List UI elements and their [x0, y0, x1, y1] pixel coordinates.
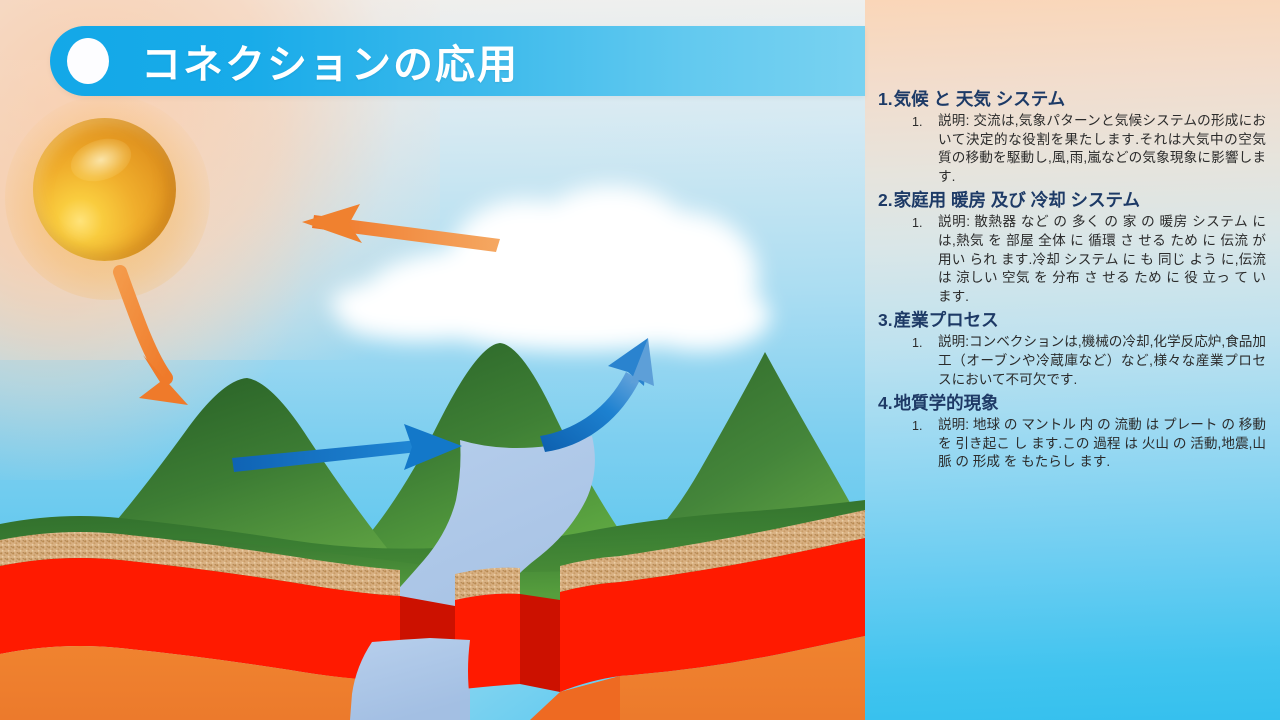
outline-heading-4-text: 地質学的現象	[894, 392, 1280, 415]
mantle-face-mid	[520, 594, 560, 692]
mantle-layer-mid2	[560, 582, 620, 692]
outline-body-4-number: 1.	[912, 416, 938, 436]
outline-heading-2-text: 家庭用 暖房 及び 冷却 システム	[894, 189, 1280, 212]
outline-item-4: 4. 地質学的現象 1. 説明: 地球 の マントル 内 の 流動 は プレート…	[865, 392, 1280, 472]
outline-body-2: 1. 説明: 散熱器 など の 多く の 家 の 暖房 システム に は,熱気 …	[865, 213, 1280, 306]
outline-heading-3-number: 3.	[878, 309, 893, 332]
orange-arrow-left	[302, 204, 500, 252]
outline-heading-3: 3. 産業プロセス	[878, 309, 1280, 332]
outline-body-3: 1. 説明:コンベクションは,機械の冷却,化学反応炉,食品加工（オーブンや冷蔵庫…	[865, 333, 1280, 389]
orange-arrow-down-right	[120, 272, 188, 405]
outline-item-3: 3. 産業プロセス 1. 説明:コンベクションは,機械の冷却,化学反応炉,食品加…	[865, 309, 1280, 389]
outline-item-2: 2. 家庭用 暖房 及び 冷却 システム 1. 説明: 散熱器 など の 多く …	[865, 189, 1280, 306]
outline-heading-4: 4. 地質学的現象	[878, 392, 1280, 415]
outline-body-3-number: 1.	[912, 333, 938, 353]
outline-heading-2: 2. 家庭用 暖房 及び 冷却 システム	[878, 189, 1280, 212]
page-title: コネクションの応用	[141, 32, 519, 90]
outline-body-2-number: 1.	[912, 213, 938, 233]
outline-body-2-text: 説明: 散熱器 など の 多く の 家 の 暖房 システム に は,熱気 を 部…	[938, 213, 1280, 306]
slide-title-bar: コネクションの応用	[50, 26, 865, 96]
outline-body-1-number: 1.	[912, 112, 938, 132]
illustration-panel	[0, 0, 865, 720]
outline-heading-1-text: 気候 と 天気 システム	[894, 88, 1280, 111]
outline-heading-1: 1. 気候 と 天気 システム	[878, 88, 1280, 111]
river-foreground	[350, 638, 470, 720]
outline-body-1: 1. 説明: 交流は,気象パターンと気候システムの形成において決定的な役割を果た…	[865, 112, 1280, 186]
outline-body-1-text: 説明: 交流は,気象パターンと気候システムの形成において決定的な役割を果たします…	[938, 112, 1280, 186]
outline-panel: 1. 気候 と 天気 システム 1. 説明: 交流は,気象パターンと気候システム…	[865, 0, 1280, 720]
blue-arrow-up-right	[540, 338, 654, 452]
slide-root: 1. 気候 と 天気 システム 1. 説明: 交流は,気象パターンと気候システム…	[0, 0, 1280, 720]
outline-list: 1. 気候 と 天気 システム 1. 説明: 交流は,気象パターンと気候システム…	[865, 88, 1280, 475]
outline-body-3-text: 説明:コンベクションは,機械の冷却,化学反応炉,食品加工（オーブンや冷蔵庫など）…	[938, 333, 1280, 389]
outline-body-4-text: 説明: 地球 の マントル 内 の 流動 は プレート の 移動 を 引き起こ …	[938, 416, 1280, 472]
outline-heading-2-number: 2.	[878, 189, 893, 212]
outline-heading-1-number: 1.	[878, 88, 893, 111]
landscape-scene	[0, 0, 865, 720]
circle-bullet-icon	[67, 38, 109, 84]
outline-heading-3-text: 産業プロセス	[894, 309, 1280, 332]
outline-item-1: 1. 気候 と 天気 システム 1. 説明: 交流は,気象パターンと気候システム…	[865, 88, 1280, 186]
outline-body-4: 1. 説明: 地球 の マントル 内 の 流動 は プレート の 移動 を 引き…	[865, 416, 1280, 472]
outline-heading-4-number: 4.	[878, 392, 893, 415]
